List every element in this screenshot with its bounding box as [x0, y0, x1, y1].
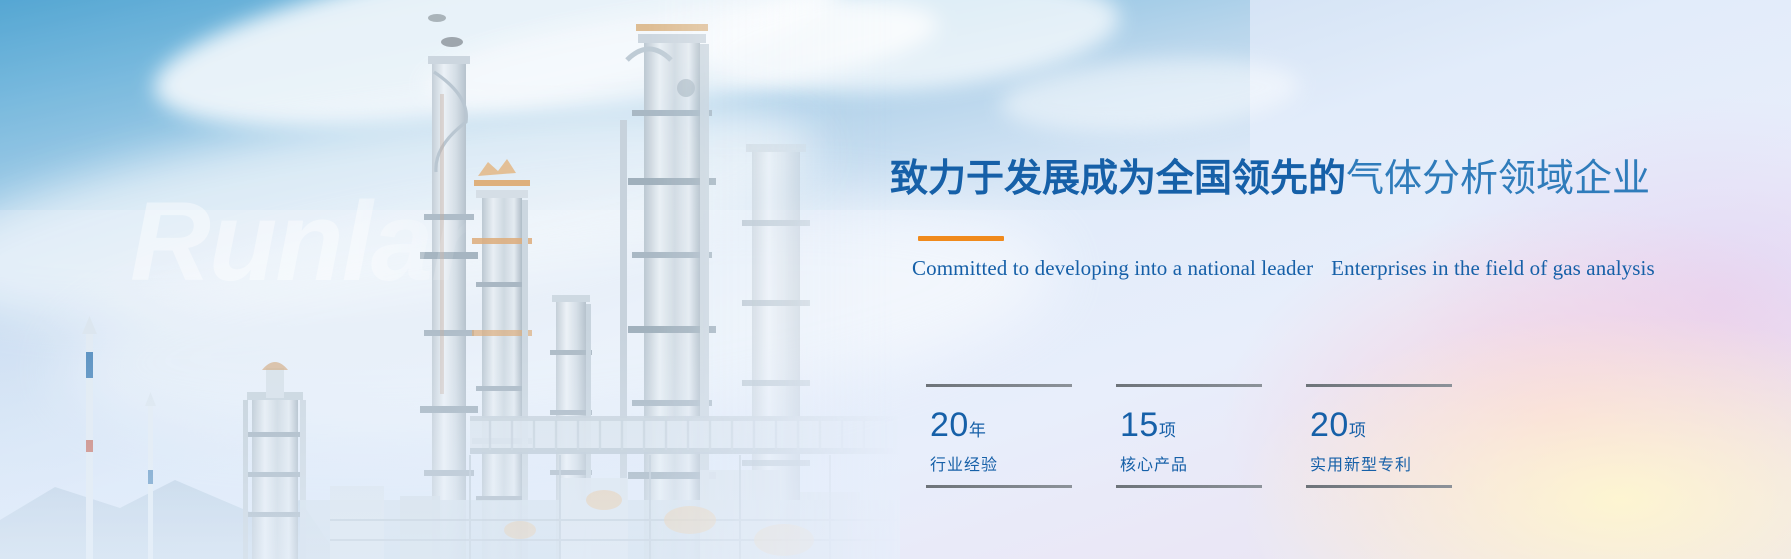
subtitle-part-1: Committed to developing into a national … [912, 256, 1313, 280]
stat-value-row: 20年 [930, 408, 1098, 442]
stat-value-row: 20项 [1310, 408, 1488, 442]
page-title: 致力于发展成为全国领先的气体分析领域企业 [890, 158, 1650, 202]
subtitle-part-2: Enterprises in the field of gas analysis [1313, 256, 1655, 280]
headline-light: 气体分析领域企业 [1346, 158, 1650, 200]
subtitle: Committed to developing into a national … [912, 256, 1655, 281]
stat-label: 实用新型专利 [1310, 451, 1488, 475]
stats-group: 20年 行业经验 15项 核心产品 [908, 384, 1488, 488]
hero-banner: Runlan 致力于发展成为全国领先的气体分析领域企业 Committed to… [0, 0, 1791, 559]
stat-item: 15项 核心产品 [1098, 384, 1288, 488]
stat-number: 20 [1310, 408, 1349, 442]
headline-strong: 致力于发展成为全国领先的 [890, 158, 1346, 200]
stat-item: 20项 实用新型专利 [1288, 384, 1488, 488]
stat-rule-bottom [1116, 485, 1262, 488]
stat-label: 行业经验 [930, 451, 1098, 475]
stat-unit: 项 [1159, 422, 1176, 439]
stat-value-row: 15项 [1120, 408, 1288, 442]
stat-unit: 项 [1349, 422, 1366, 439]
stat-rule-top [1116, 384, 1262, 387]
stat-rule-top [926, 384, 1072, 387]
brand-watermark: Runlan [130, 186, 498, 298]
stat-rule-top [1306, 384, 1452, 387]
stat-item: 20年 行业经验 [908, 384, 1098, 488]
stat-rule-bottom [1306, 485, 1452, 488]
stat-number: 20 [930, 408, 969, 442]
stat-number: 15 [1120, 408, 1159, 442]
stat-rule-bottom [926, 485, 1072, 488]
stat-label: 核心产品 [1120, 451, 1288, 475]
stat-unit: 年 [969, 422, 986, 439]
accent-divider [918, 236, 1004, 241]
hero-content: 致力于发展成为全国领先的气体分析领域企业 Committed to develo… [890, 0, 1670, 559]
